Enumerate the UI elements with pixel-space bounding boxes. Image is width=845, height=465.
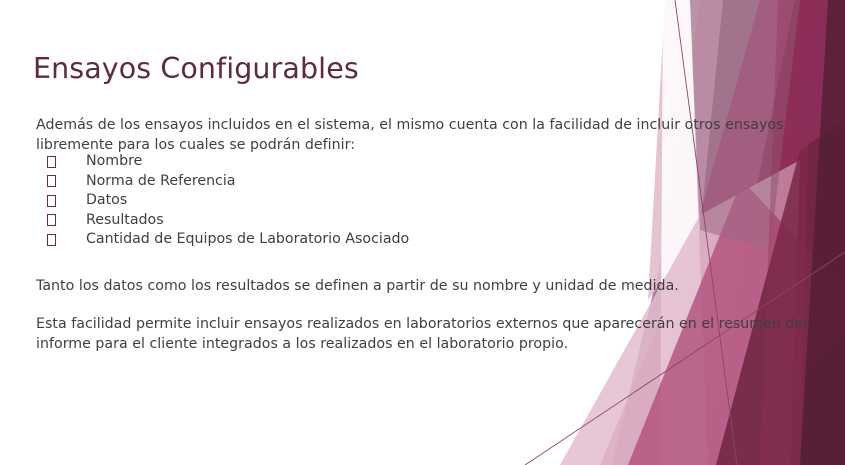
page-title: Ensayos Configurables xyxy=(33,52,359,85)
list-item: Nombre xyxy=(36,152,409,172)
list-item-label: Nombre xyxy=(86,152,142,172)
list-item: Datos xyxy=(36,191,409,211)
bullet-box-icon xyxy=(47,234,56,246)
bullet-box-icon xyxy=(47,214,56,226)
list-item: Cantidad de Equipos de Laboratorio Asoci… xyxy=(36,230,409,250)
definable-fields-list: Nombre Norma de Referencia Datos Resulta… xyxy=(36,152,409,250)
list-item-label: Datos xyxy=(86,191,127,211)
list-item: Norma de Referencia xyxy=(36,172,409,192)
slide-content: Ensayos Configurables Además de los ensa… xyxy=(0,0,845,465)
list-item-label: Resultados xyxy=(86,211,164,231)
bullet-box-icon xyxy=(47,156,56,168)
datos-paragraph: Tanto los datos como los resultados se d… xyxy=(36,276,736,296)
bullet-box-icon xyxy=(47,175,56,187)
bullet-box-icon xyxy=(47,195,56,207)
facilidad-paragraph: Esta facilidad permite incluir ensayos r… xyxy=(36,314,811,354)
list-item-label: Norma de Referencia xyxy=(86,172,236,192)
list-item-label: Cantidad de Equipos de Laboratorio Asoci… xyxy=(86,230,409,250)
slide-canvas: Ensayos Configurables Además de los ensa… xyxy=(0,0,845,465)
intro-paragraph: Además de los ensayos incluidos en el si… xyxy=(36,115,826,155)
list-item: Resultados xyxy=(36,211,409,231)
